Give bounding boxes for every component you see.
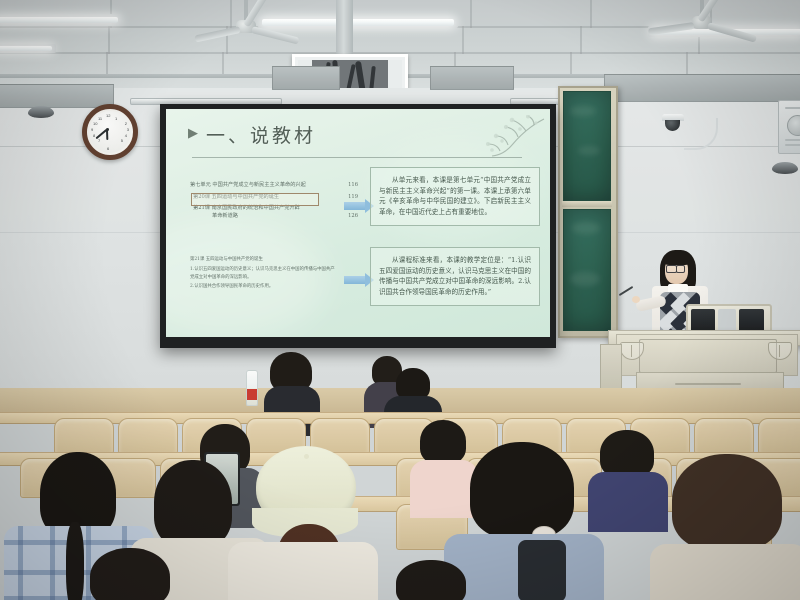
slide-content: ▶ 一、说教材 第七单元 中国共产党成立与新民主主义革命的兴起 116 第20课… (166, 109, 550, 337)
slide-title: 一、说教材 (206, 121, 316, 148)
glasses-icon-right (676, 265, 685, 273)
toc-page: 119 (348, 193, 358, 201)
standard-line: 1.认识五四爱国运动的历史意义；认识马克思主义在中国的传播与中国共产 (190, 266, 364, 273)
podium-side-cabinet (600, 344, 622, 394)
standard-heading: 第21课 五四运动与中国共产党的诞生 (190, 256, 364, 263)
toc-page: 126 (348, 212, 358, 220)
wall-panel-right (604, 74, 800, 102)
wall-lamp-right (772, 162, 798, 174)
presenter-bangs (663, 252, 691, 265)
toc-label: 第七单元 中国共产党成立与新民主主义革命的兴起 (190, 181, 306, 189)
curriculum-standard-callout: 从课程标准来看，本课的教学定位是：“1.认识五四爱国运动的历史意义，认识马克思主… (370, 247, 540, 306)
standard-line: 2.认识国共合作领导国民革命的历史作用。 (190, 283, 364, 290)
wall-panel-center-right (430, 66, 514, 90)
wall-speaker (778, 100, 800, 154)
toc-row: 革命新道路 126 (190, 212, 358, 220)
callout-text: 从单元来看，本课是第七单元“中国共产党成立与新民主主义革命兴起”的第一课。本课上… (379, 176, 531, 216)
plum-blossom-icon (474, 115, 546, 161)
standard-line: 党成立对中国革命的深远影响。 (190, 274, 364, 281)
braid (66, 522, 84, 600)
ceiling-light-tube-center (262, 19, 454, 26)
clock-hour-hand (106, 130, 108, 140)
title-underline (192, 157, 522, 158)
ceiling-light-tube-left (0, 17, 118, 23)
wall-clock: 12 1 2 3 4 5 6 7 8 9 10 11 (82, 104, 138, 160)
toc-row: 第七单元 中国共产党成立与新民主主义革命的兴起 116 (190, 181, 358, 189)
projection-screen[interactable]: ▶ 一、说教材 第七单元 中国共产党成立与新民主主义革命的兴起 116 第20课… (166, 109, 550, 337)
wall-panel-center-left (272, 66, 340, 90)
callout-text: 从课程标准来看，本课的教学定位是：“1.认识五四爱国运动的历史意义，认识马克思主… (379, 256, 531, 296)
lecture-hall-scene: 12 1 2 3 4 5 6 7 8 9 10 11 (0, 0, 800, 600)
title-bullet-icon: ▶ (188, 125, 198, 141)
projector-duct (336, 0, 353, 56)
blackboard (558, 86, 618, 338)
ceiling-light-tube-far-left (0, 46, 52, 51)
projection-screen-frame: ▶ 一、说教材 第七单元 中国共产党成立与新民主主义革命的兴起 116 第20课… (160, 104, 556, 348)
presenter-hand (632, 296, 640, 303)
water-bottle (246, 370, 258, 406)
wall-lamp-left (28, 106, 54, 118)
wall-panel-left (0, 84, 114, 108)
toc-highlight-box (191, 193, 319, 206)
curriculum-standard-excerpt: 第21课 五四运动与中国共产党的诞生 1.认识五四爱国运动的历史意义；认识马克思… (190, 256, 364, 291)
unit-position-callout: 从单元来看，本课是第七单元“中国共产党成立与新民主主义革命兴起”的第一课。本课上… (370, 167, 540, 226)
toc-page: 116 (348, 181, 358, 189)
toc-label: 革命新道路 (212, 212, 238, 220)
